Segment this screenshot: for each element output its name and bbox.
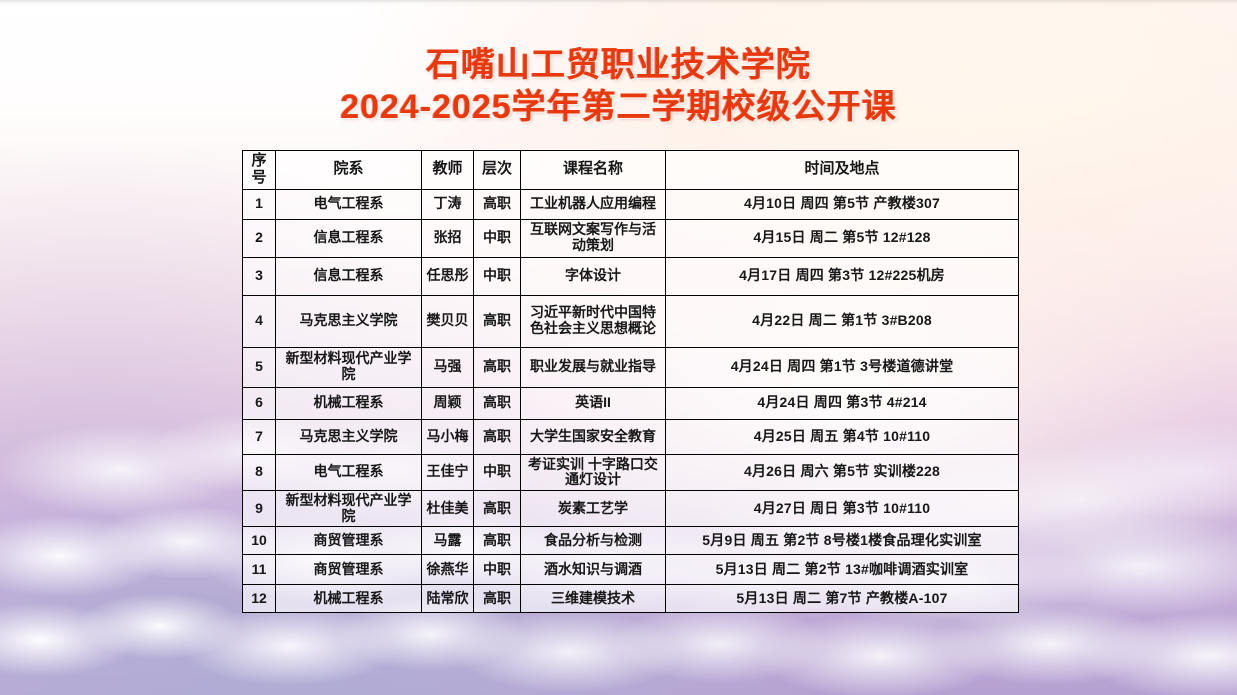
cell-teacher: 马露 (422, 527, 474, 555)
cell-course: 大学生国家安全教育 (521, 419, 666, 454)
table-row: 10商贸管理系马露高职食品分析与检测5月9日 周五 第2节 8号楼1楼食品理化实… (243, 527, 1019, 555)
column-header-time: 时间及地点 (666, 151, 1019, 190)
cell-dept: 信息工程系 (276, 219, 422, 257)
page-title: 石嘴山工贸职业技术学院 2024-2025学年第二学期校级公开课 (0, 44, 1237, 128)
cell-level: 高职 (474, 387, 521, 419)
table-row: 3信息工程系任思彤中职字体设计4月17日 周四 第3节 12#225机房 (243, 257, 1019, 295)
cell-course: 食品分析与检测 (521, 527, 666, 555)
column-header-level: 层次 (474, 151, 521, 190)
cell-course: 职业发展与就业指导 (521, 347, 666, 387)
cell-no: 7 (243, 419, 276, 454)
cell-time: 4月24日 周四 第1节 3号楼道德讲堂 (666, 347, 1019, 387)
cell-teacher: 马强 (422, 347, 474, 387)
cell-time: 5月13日 周二 第2节 13#咖啡调酒实训室 (666, 555, 1019, 585)
slide-page: 石嘴山工贸职业技术学院 2024-2025学年第二学期校级公开课 序号 院系 教… (0, 0, 1237, 695)
cell-time: 4月25日 周五 第4节 10#110 (666, 419, 1019, 454)
cell-dept: 新型材料现代产业学院 (276, 347, 422, 387)
cell-dept: 电气工程系 (276, 454, 422, 490)
cell-dept: 商贸管理系 (276, 527, 422, 555)
cell-teacher: 王佳宁 (422, 454, 474, 490)
title-line-term: 2024-2025学年第二学期校级公开课 (0, 86, 1237, 128)
cell-teacher: 陆常欣 (422, 585, 474, 613)
table-header-row: 序号 院系 教师 层次 课程名称 时间及地点 (243, 151, 1019, 190)
table-row: 8电气工程系王佳宁中职考证实训 十字路口交通灯设计4月26日 周六 第5节 实训… (243, 454, 1019, 490)
cell-course: 英语II (521, 387, 666, 419)
cell-course: 三维建模技术 (521, 585, 666, 613)
cell-course: 炭素工艺学 (521, 490, 666, 526)
cell-level: 中职 (474, 454, 521, 490)
cell-dept: 马克思主义学院 (276, 295, 422, 347)
cell-course: 酒水知识与调酒 (521, 555, 666, 585)
table-row: 7马克思主义学院马小梅高职大学生国家安全教育4月25日 周五 第4节 10#11… (243, 419, 1019, 454)
cell-level: 中职 (474, 555, 521, 585)
cell-no: 1 (243, 189, 276, 219)
cell-time: 4月22日 周二 第1节 3#B208 (666, 295, 1019, 347)
cell-teacher: 周颖 (422, 387, 474, 419)
cell-course: 互联网文案写作与活动策划 (521, 219, 666, 257)
cell-time: 4月24日 周四 第3节 4#214 (666, 387, 1019, 419)
column-header-teacher: 教师 (422, 151, 474, 190)
cell-no: 3 (243, 257, 276, 295)
cell-teacher: 马小梅 (422, 419, 474, 454)
column-header-course: 课程名称 (521, 151, 666, 190)
table-row: 9新型材料现代产业学院杜佳美高职炭素工艺学4月27日 周日 第3节 10#110 (243, 490, 1019, 526)
table-row: 2信息工程系张招中职互联网文案写作与活动策划4月15日 周二 第5节 12#12… (243, 219, 1019, 257)
cell-course: 字体设计 (521, 257, 666, 295)
cell-teacher: 杜佳美 (422, 490, 474, 526)
cell-no: 12 (243, 585, 276, 613)
cell-time: 4月27日 周日 第3节 10#110 (666, 490, 1019, 526)
public-course-schedule-table: 序号 院系 教师 层次 课程名称 时间及地点 1电气工程系丁涛高职工业机器人应用… (242, 150, 1019, 613)
table-header: 序号 院系 教师 层次 课程名称 时间及地点 (243, 151, 1019, 190)
table-row: 11商贸管理系徐燕华中职酒水知识与调酒5月13日 周二 第2节 13#咖啡调酒实… (243, 555, 1019, 585)
cell-level: 高职 (474, 295, 521, 347)
cell-level: 中职 (474, 219, 521, 257)
cell-level: 高职 (474, 527, 521, 555)
cell-time: 4月15日 周二 第5节 12#128 (666, 219, 1019, 257)
cell-no: 4 (243, 295, 276, 347)
table-body: 1电气工程系丁涛高职工业机器人应用编程4月10日 周四 第5节 产教楼3072信… (243, 189, 1019, 613)
cell-no: 8 (243, 454, 276, 490)
table-row: 6机械工程系周颖高职英语II4月24日 周四 第3节 4#214 (243, 387, 1019, 419)
cell-course: 习近平新时代中国特色社会主义思想概论 (521, 295, 666, 347)
table-row: 4马克思主义学院樊贝贝高职习近平新时代中国特色社会主义思想概论4月22日 周二 … (243, 295, 1019, 347)
table-row: 5新型材料现代产业学院马强高职职业发展与就业指导4月24日 周四 第1节 3号楼… (243, 347, 1019, 387)
table-row: 12机械工程系陆常欣高职三维建模技术5月13日 周二 第7节 产教楼A-107 (243, 585, 1019, 613)
cell-dept: 机械工程系 (276, 387, 422, 419)
title-line-institution: 石嘴山工贸职业技术学院 (0, 44, 1237, 86)
cell-no: 9 (243, 490, 276, 526)
table-row: 1电气工程系丁涛高职工业机器人应用编程4月10日 周四 第5节 产教楼307 (243, 189, 1019, 219)
cell-time: 4月26日 周六 第5节 实训楼228 (666, 454, 1019, 490)
cell-level: 高职 (474, 419, 521, 454)
cell-teacher: 徐燕华 (422, 555, 474, 585)
cell-level: 高职 (474, 189, 521, 219)
cell-dept: 机械工程系 (276, 585, 422, 613)
cell-teacher: 任思彤 (422, 257, 474, 295)
cell-level: 高职 (474, 490, 521, 526)
cell-teacher: 张招 (422, 219, 474, 257)
cell-time: 4月17日 周四 第3节 12#225机房 (666, 257, 1019, 295)
cell-teacher: 丁涛 (422, 189, 474, 219)
cell-course: 考证实训 十字路口交通灯设计 (521, 454, 666, 490)
cell-dept: 电气工程系 (276, 189, 422, 219)
cell-no: 11 (243, 555, 276, 585)
cell-time: 5月9日 周五 第2节 8号楼1楼食品理化实训室 (666, 527, 1019, 555)
cell-no: 10 (243, 527, 276, 555)
cell-dept: 商贸管理系 (276, 555, 422, 585)
cell-level: 中职 (474, 257, 521, 295)
cell-no: 2 (243, 219, 276, 257)
cell-time: 4月10日 周四 第5节 产教楼307 (666, 189, 1019, 219)
column-header-no: 序号 (243, 151, 276, 190)
cell-level: 高职 (474, 585, 521, 613)
cell-dept: 马克思主义学院 (276, 419, 422, 454)
cell-no: 5 (243, 347, 276, 387)
cell-course: 工业机器人应用编程 (521, 189, 666, 219)
cell-level: 高职 (474, 347, 521, 387)
column-header-dept: 院系 (276, 151, 422, 190)
cell-no: 6 (243, 387, 276, 419)
cell-dept: 新型材料现代产业学院 (276, 490, 422, 526)
cell-dept: 信息工程系 (276, 257, 422, 295)
cell-teacher: 樊贝贝 (422, 295, 474, 347)
cell-time: 5月13日 周二 第7节 产教楼A-107 (666, 585, 1019, 613)
